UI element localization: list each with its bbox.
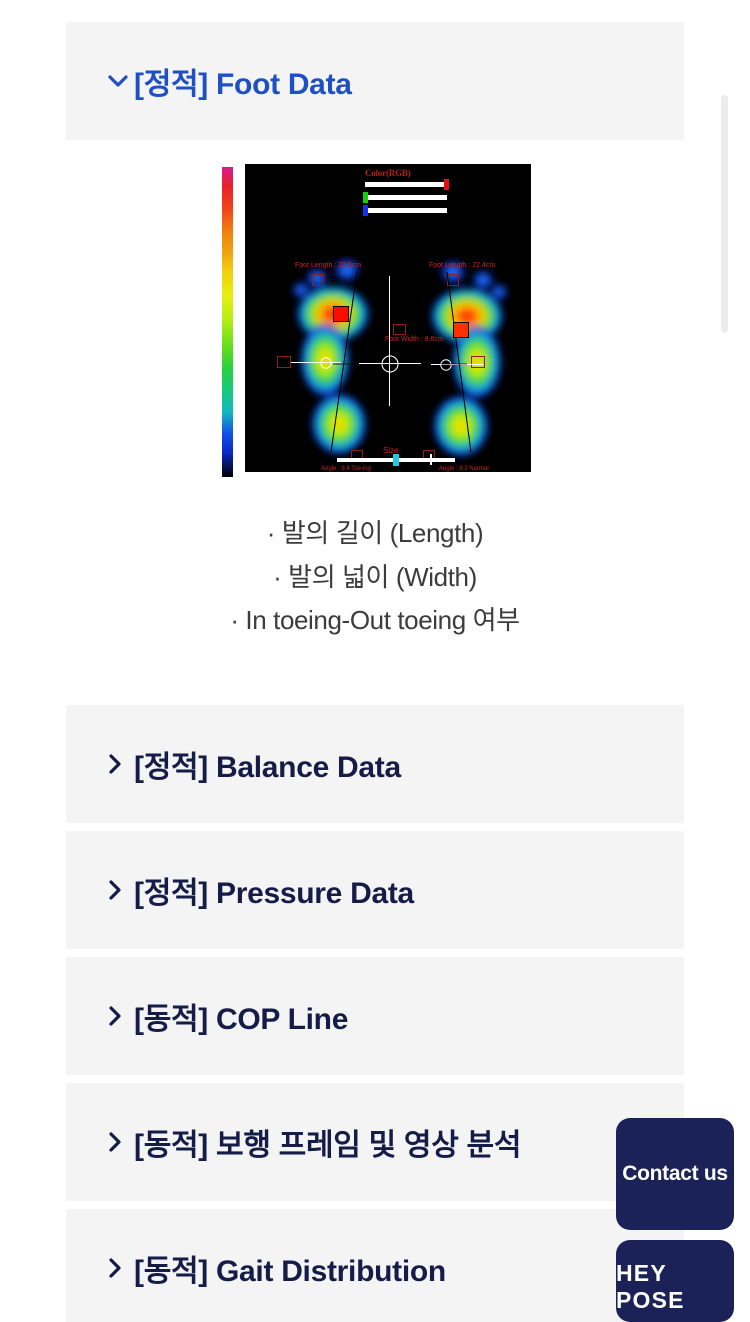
peak-pressure-marker-right — [453, 322, 469, 338]
accordion-panel-balance-data: [정적] Balance Data — [66, 705, 684, 823]
accordion-list: [정적] Foot Data Color(RGB) — [66, 22, 684, 1322]
chevron-right-icon[interactable] — [108, 880, 134, 900]
accordion-label: [정적] Foot Data — [134, 59, 352, 103]
accordion-header-gait-distribution[interactable]: [동적] Gait Distribution — [66, 1209, 684, 1322]
bullet-item: · In toeing-Out toeing 여부 — [66, 599, 684, 643]
chevron-right-icon[interactable] — [108, 754, 134, 774]
accordion-header-cop-line[interactable]: [동적] COP Line — [66, 957, 684, 1075]
chevron-right-icon[interactable] — [108, 1258, 134, 1278]
accordion-header-gait-frame-video[interactable]: [동적] 보행 프레임 및 영상 분석 — [66, 1083, 684, 1201]
size-slider-handle[interactable] — [393, 454, 399, 466]
bullet-item: · 발의 길이 (Length) — [66, 512, 684, 556]
accordion-panel-gait-frame-video: [동적] 보행 프레임 및 영상 분석 — [66, 1083, 684, 1201]
heypose-logo-button[interactable]: HEY POSE — [616, 1240, 734, 1322]
floating-button-column: Contact us HEY POSE — [616, 1118, 734, 1322]
contact-us-label: Contact us — [622, 1162, 728, 1186]
accordion-header-balance-data[interactable]: [정적] Balance Data — [66, 705, 684, 823]
foot-data-bullet-list: · 발의 길이 (Length) · 발의 넓이 (Width) · In to… — [66, 512, 684, 643]
foot-data-content: Color(RGB) — [66, 158, 684, 705]
contact-us-button[interactable]: Contact us — [616, 1118, 734, 1230]
accordion-panel-pressure-data: [정적] Pressure Data — [66, 831, 684, 949]
size-slider-plus-v — [430, 454, 432, 465]
foot-axis-lines — [245, 164, 541, 476]
accordion-label: [정적] Pressure Data — [134, 868, 414, 912]
accordion-label: [동적] COP Line — [134, 994, 348, 1038]
bullet-item: · 발의 넓이 (Width) — [66, 556, 684, 600]
accordion-panel-foot-data: [정적] Foot Data — [66, 22, 684, 140]
accordion-label: [동적] 보행 프레임 및 영상 분석 — [134, 1120, 521, 1164]
accordion-panel-gait-distribution: [동적] Gait Distribution — [66, 1209, 684, 1322]
accordion-header-pressure-data[interactable]: [정적] Pressure Data — [66, 831, 684, 949]
accordion-panel-cop-line: [동적] COP Line — [66, 957, 684, 1075]
chevron-down-icon[interactable] — [108, 75, 134, 88]
chevron-right-icon[interactable] — [108, 1132, 134, 1152]
peak-pressure-marker-left — [333, 306, 349, 322]
accordion-label: [정적] Balance Data — [134, 742, 401, 786]
accordion-header-foot-data[interactable]: [정적] Foot Data — [66, 22, 684, 140]
heypose-logo-label: HEY POSE — [616, 1260, 734, 1314]
page-scrollbar-thumb[interactable] — [721, 95, 728, 333]
chevron-right-icon[interactable] — [108, 1006, 134, 1026]
accordion-label: [동적] Gait Distribution — [134, 1246, 446, 1290]
foot-pressure-heatmap: Color(RGB) — [213, 158, 537, 478]
color-scale-bar — [221, 166, 234, 478]
page-root: ver.com/joongg a [정적] Foot Data — [0, 0, 750, 1322]
